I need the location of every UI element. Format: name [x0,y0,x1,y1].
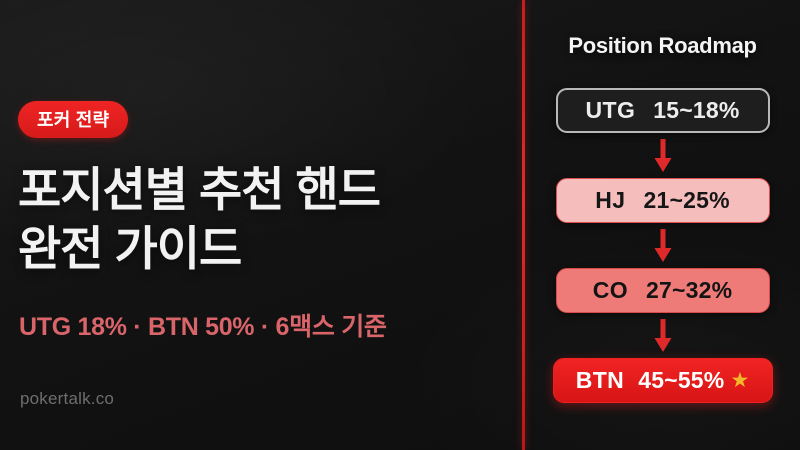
roadmap-title: Position Roadmap [525,33,800,59]
position-range: 27~32% [646,279,732,302]
position-card-btn: BTN 45~55% ★ [553,358,773,403]
position-range: 21~25% [643,189,729,212]
poster-canvas: 포커 전략 포지션별 추천 핸드 완전 가이드 UTG 18% · BTN 50… [0,0,800,450]
arrow-down-icon [654,139,672,173]
category-badge-label: 포커 전략 [37,111,109,129]
position-label: BTN [576,369,624,392]
position-range: 45~55% [638,369,724,392]
right-panel: Position Roadmap UTG 15~18% HJ 21~25% [525,0,800,450]
position-card-co: CO 27~32% [556,268,770,313]
arrow-down-icon [654,229,672,263]
star-icon: ★ [730,370,749,391]
position-card-hj: HJ 21~25% [556,178,770,223]
position-label: HJ [595,189,625,212]
arrow-connector-1 [525,133,800,178]
arrow-connector-2 [525,223,800,268]
position-range: 15~18% [653,99,739,122]
vertical-divider [522,0,525,450]
headline-line-1: 포지션별 추천 핸드 [18,160,508,219]
arrow-connector-3 [525,313,800,358]
brand-watermark: pokertalk.co [20,389,114,409]
position-label: UTG [586,99,636,122]
position-label: CO [593,279,628,302]
arrow-down-icon [654,319,672,353]
headline-line-2: 완전 가이드 [18,219,508,278]
position-card-utg: UTG 15~18% [556,88,770,133]
headline: 포지션별 추천 핸드 완전 가이드 [18,160,508,278]
subtitle: UTG 18% · BTN 50% · 6맥스 기준 [19,307,387,343]
left-panel: 포커 전략 포지션별 추천 핸드 완전 가이드 UTG 18% · BTN 50… [0,0,523,450]
roadmap-chain: UTG 15~18% HJ 21~25% [525,88,800,403]
category-badge: 포커 전략 [18,101,128,138]
